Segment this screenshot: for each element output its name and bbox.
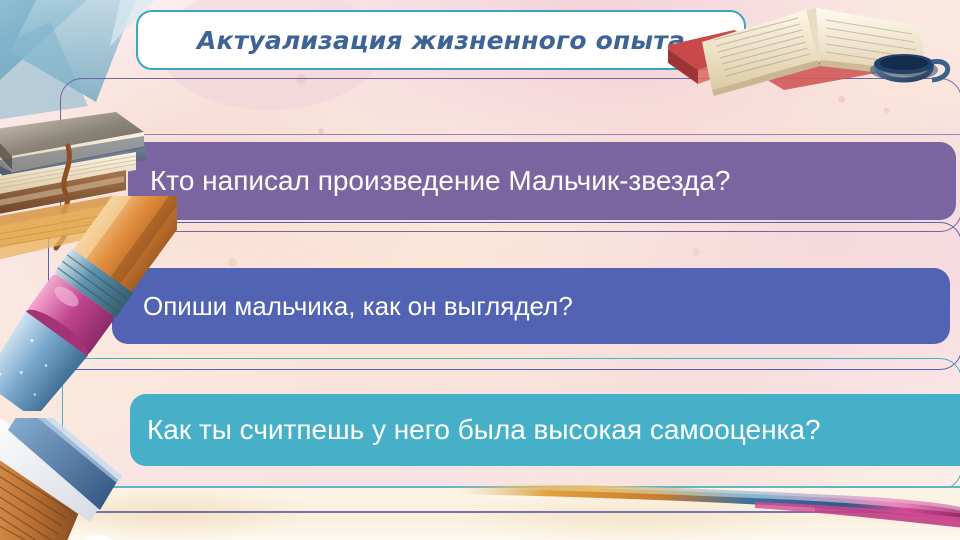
question-text-1: Кто написал произведение Мальчик-звезда? bbox=[150, 165, 731, 197]
question-bar-3[interactable]: Как ты считпешь у него была высокая само… bbox=[130, 394, 960, 466]
question-bar-2[interactable]: Опиши мальчика, как он выглядел? bbox=[112, 268, 950, 344]
slide-canvas: Актуализация жизненного опыта Кто написа… bbox=[0, 0, 960, 540]
divider-teal-bottom bbox=[0, 486, 960, 488]
page-title: Актуализация жизненного опыта bbox=[197, 26, 685, 55]
parchment-band bbox=[0, 486, 960, 540]
question-text-3: Как ты считпешь у него была высокая само… bbox=[147, 414, 821, 446]
question-text-2: Опиши мальчика, как он выглядел? bbox=[143, 291, 573, 322]
slide-title-box: Актуализация жизненного опыта bbox=[136, 10, 746, 70]
divider-indigo-bottom bbox=[0, 511, 960, 513]
question-bar-1[interactable]: Кто написал произведение Мальчик-звезда? bbox=[128, 142, 956, 220]
